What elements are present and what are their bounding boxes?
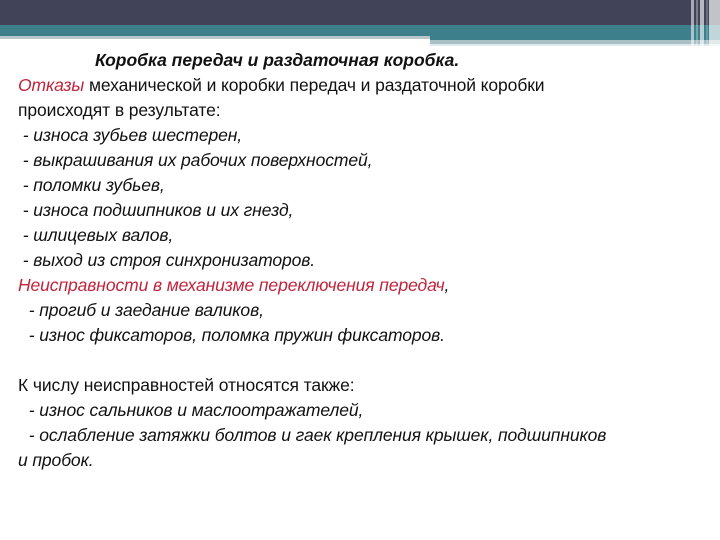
intro-line-2: происходят в результате: — [0, 98, 720, 123]
section-three-heading: К числу неисправностей относятся также: — [0, 373, 720, 398]
banner-band-dark — [0, 0, 720, 25]
banner-vertical-stripe-2 — [696, 0, 698, 46]
banner-vertical-stripe-3 — [700, 0, 704, 46]
intro-rest: механической и коробки передач и раздато… — [84, 75, 544, 95]
list-item-wrap: и пробок. — [0, 448, 720, 473]
list-item: - износа подшипников и их гнезд, — [0, 198, 720, 223]
intro-accent-word: Отказы — [18, 75, 84, 95]
list-item: - износ фиксаторов, поломка пружин фикса… — [0, 323, 720, 348]
banner-hairline-right-2 — [430, 44, 720, 46]
banner-vertical-stripe-4 — [706, 0, 708, 46]
list-item: - износа зубьев шестерен, — [0, 123, 720, 148]
banner-hairline-left — [0, 36, 430, 39]
list-item: - поломки зубьев, — [0, 173, 720, 198]
banner-band-teal-right — [430, 25, 720, 40]
list-item: - выкрашивания их рабочих поверхностей, — [0, 148, 720, 173]
list-item: - ослабление затяжки болтов и гаек крепл… — [0, 423, 720, 448]
section-two-heading: Неисправности в механизме переключения п… — [0, 273, 720, 298]
slide-title: Коробка передач и раздаточная коробка. — [0, 48, 720, 73]
section-two-heading-text: Неисправности в механизме переключения п… — [18, 275, 445, 295]
header-banner — [0, 0, 720, 46]
list-item: - износ сальников и маслоотражателей, — [0, 398, 720, 423]
paragraph-spacer — [0, 348, 720, 373]
slide-canvas: Коробка передач и раздаточная коробка. О… — [0, 0, 720, 540]
banner-vertical-stripe-5 — [709, 0, 720, 46]
list-item: - прогиб и заедание валиков, — [0, 298, 720, 323]
intro-line-1: Отказы механической и коробки передач и … — [0, 73, 720, 98]
slide-body: Коробка передач и раздаточная коробка. О… — [0, 48, 720, 473]
list-item: - шлицевых валов, — [0, 223, 720, 248]
list-item: - выход из строя синхронизаторов. — [0, 248, 720, 273]
section-two-heading-comma: , — [445, 275, 450, 295]
banner-vertical-stripe-1 — [691, 0, 694, 46]
